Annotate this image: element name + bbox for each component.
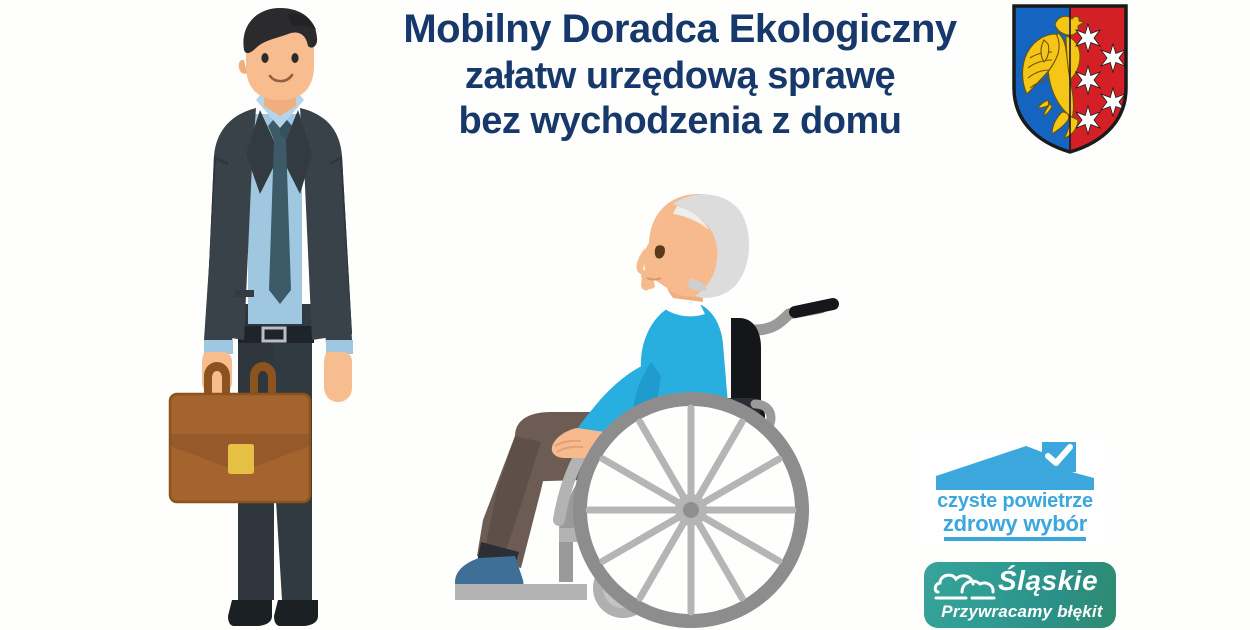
headline-line-1: Mobilny Doradca Ekologiczny [340, 8, 1020, 50]
logo-czyste-powietrze-underline [944, 537, 1086, 541]
logo-czyste-powietrze-line-1: czyste powietrze [920, 490, 1110, 513]
wheelchair-user-illustration [455, 190, 875, 630]
house-roof-check-icon [930, 442, 1100, 494]
poster-canvas: Mobilny Doradca Ekologiczny załatw urzęd… [0, 0, 1250, 630]
logo-slaskie-line-2: Przywracamy błękit [930, 603, 1114, 620]
businessman-icon [160, 4, 390, 630]
logo-czyste-powietrze: czyste powietrze zdrowy wybór [920, 440, 1110, 545]
coat-of-arms-icon [1000, 0, 1140, 158]
headline-line-2: załatw urzędową sprawę [340, 56, 1020, 96]
silesian-coat-of-arms [1000, 0, 1140, 158]
wheelchair-wheel [573, 392, 809, 628]
page-title: Mobilny Doradca Ekologiczny załatw urzęd… [340, 8, 1020, 141]
businessman-illustration [160, 4, 390, 630]
logo-slaskie: Śląskie Przywracamy błękit [924, 562, 1116, 628]
logo-slaskie-line-1: Śląskie [998, 567, 1114, 595]
headline-line-3: bez wychodzenia z domu [340, 101, 1020, 141]
wheelchair-user-icon [455, 190, 875, 630]
logo-czyste-powietrze-line-2: zdrowy wybór [920, 511, 1110, 537]
